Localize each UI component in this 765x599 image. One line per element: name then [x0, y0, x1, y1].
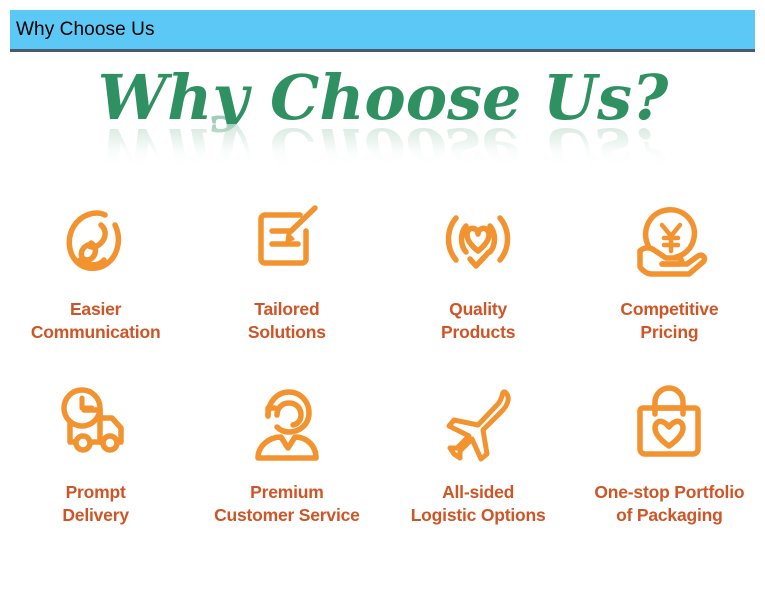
poster-content: Why Choose Us? Why Choose Us? Easier Com [0, 55, 765, 599]
headset-agent-icon [241, 377, 333, 469]
feature-label: One-stop Portfolio of Packaging [594, 481, 744, 528]
feature-item-easier-communication[interactable]: Easier Communication [0, 194, 191, 345]
headline-block: Why Choose Us? Why Choose Us? [0, 61, 765, 166]
headline-graphic: Why Choose Us? Why Choose Us? [83, 61, 683, 166]
feature-label: Premium Customer Service [214, 481, 360, 528]
feature-label: Quality Products [441, 298, 515, 345]
feature-item-all-sided-logistic-options[interactable]: All-sided Logistic Options [383, 377, 574, 528]
feature-label: Prompt Delivery [62, 481, 129, 528]
feature-label: Tailored Solutions [248, 298, 326, 345]
feature-item-premium-customer-service[interactable]: Premium Customer Service [191, 377, 382, 528]
reflection-fade-overlay [83, 124, 683, 166]
feature-label: Competitive Pricing [620, 298, 718, 345]
feature-label: All-sided Logistic Options [411, 481, 546, 528]
document-pencil-icon [241, 194, 333, 286]
window-title: Why Choose Us [10, 19, 155, 41]
airplane-icon [432, 377, 524, 469]
shopping-bag-heart-icon [623, 377, 715, 469]
feature-item-quality-products[interactable]: Quality Products [383, 194, 574, 345]
feature-label: Easier Communication [31, 298, 161, 345]
window-title-bar: Why Choose Us [10, 10, 755, 52]
feature-item-one-stop-portfolio-of-packaging[interactable]: One-stop Portfolio of Packaging [574, 377, 765, 528]
feature-item-competitive-pricing[interactable]: Competitive Pricing [574, 194, 765, 345]
feature-grid: Easier Communication Tailored Solutions [0, 194, 765, 527]
feature-item-prompt-delivery[interactable]: Prompt Delivery [0, 377, 191, 528]
hand-yen-coin-icon [623, 194, 715, 286]
truck-clock-icon [50, 377, 142, 469]
heart-waves-check-icon [432, 194, 524, 286]
ear-listening-icon [50, 194, 142, 286]
feature-item-tailored-solutions[interactable]: Tailored Solutions [191, 194, 382, 345]
